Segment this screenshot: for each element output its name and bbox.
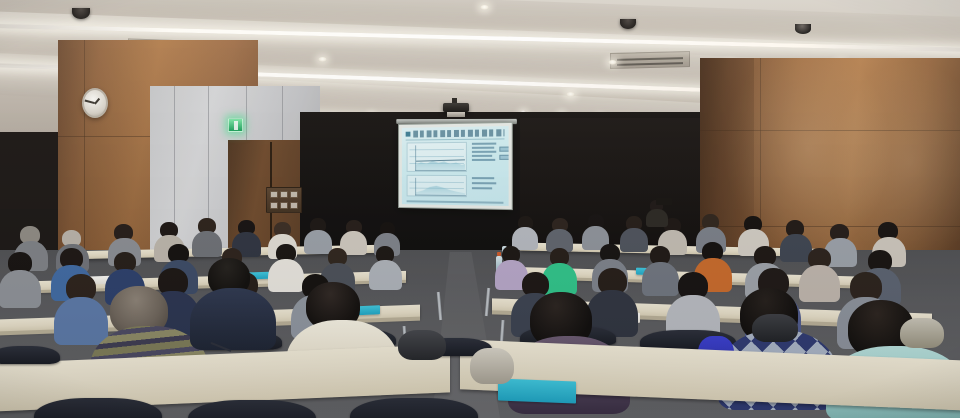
chair-back [350, 398, 478, 418]
slide-footnote [407, 204, 482, 206]
ceiling-projector [443, 103, 469, 112]
clock-hour-hand [94, 98, 100, 104]
ceiling-air-vent [610, 51, 690, 69]
wall-clock [82, 88, 108, 118]
slide-divider [406, 138, 505, 140]
torso [304, 230, 332, 254]
slide-legend-chip [499, 147, 508, 152]
torso [799, 265, 840, 302]
projector-label-plate [447, 112, 465, 117]
downlight [608, 60, 617, 65]
slide-title-text [413, 129, 504, 137]
floor-bag [752, 314, 798, 342]
floor-bag [900, 318, 944, 348]
slide-chart-upper [407, 142, 467, 172]
chair-back [34, 398, 162, 418]
downlight [318, 57, 327, 62]
torso [54, 297, 108, 345]
slide-legend-lower [472, 177, 498, 191]
torso [642, 262, 679, 296]
slide-bullet-marker [406, 132, 411, 137]
torso [620, 228, 648, 252]
torso [646, 209, 668, 227]
floor-bag [398, 330, 446, 360]
torso [190, 288, 276, 350]
downlight [566, 92, 575, 97]
chair-back [0, 346, 60, 364]
slide-title-bar [406, 129, 505, 138]
torso [192, 231, 222, 257]
tripod-camera [656, 198, 672, 205]
torso [0, 270, 41, 308]
projection-screen [398, 122, 513, 210]
slide-area-series [416, 184, 465, 195]
floor-bag [470, 348, 514, 384]
slide-footnote [407, 200, 504, 203]
clock-minute-hand [85, 100, 95, 104]
teal-folder[interactable] [498, 379, 576, 404]
bottle-cap [497, 252, 501, 256]
projected-slide [402, 126, 509, 206]
ceiling-security-camera [795, 24, 811, 34]
downlight [480, 5, 489, 10]
slide-chart-lower [407, 175, 467, 197]
lecture-hall-photo [0, 0, 960, 418]
emergency-exit-sign [228, 118, 243, 132]
torso [268, 259, 304, 292]
torso [369, 260, 402, 290]
slide-legend-chip [499, 155, 508, 160]
light-switch-panel[interactable] [266, 187, 302, 213]
slide-legend-upper [472, 143, 498, 163]
